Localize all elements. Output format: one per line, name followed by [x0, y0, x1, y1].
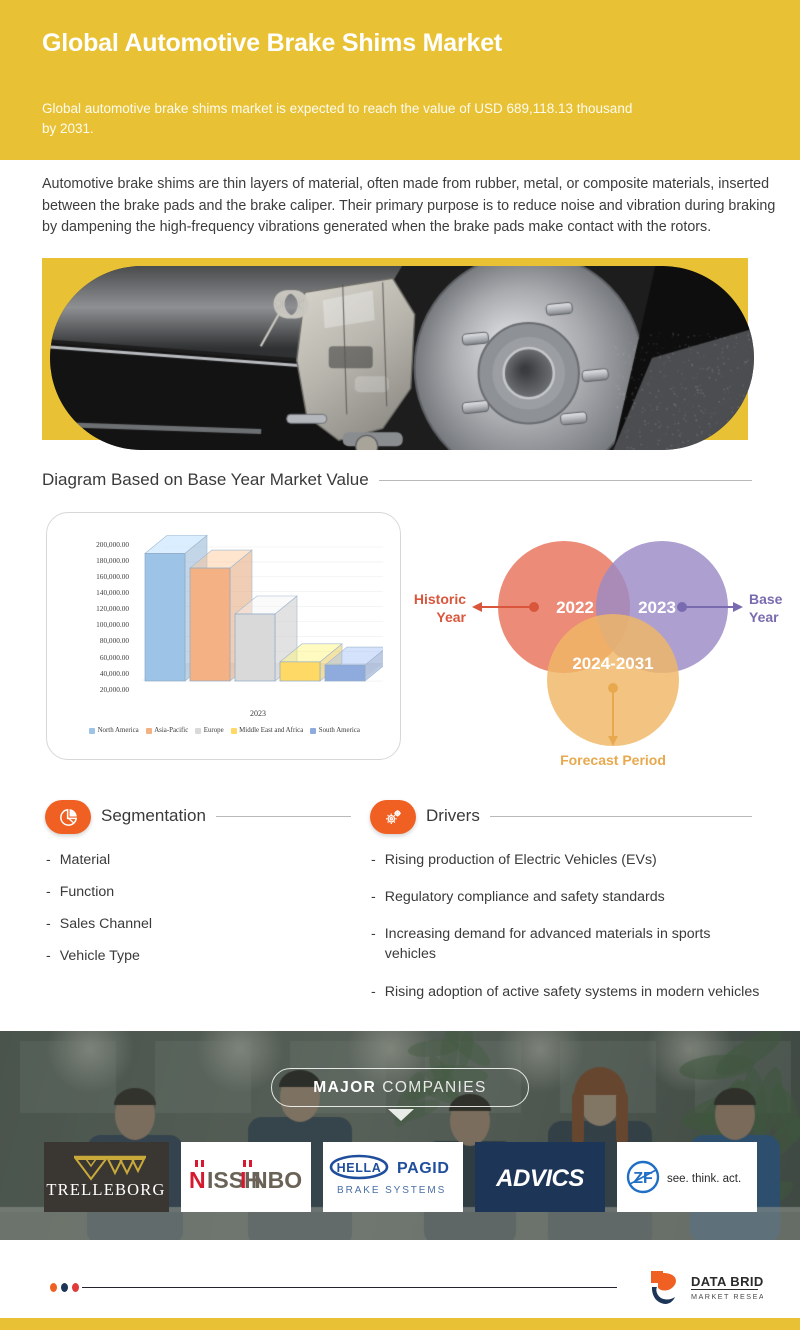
chart-legend-item: Europe: [195, 727, 223, 734]
svg-text:ZF: ZF: [633, 1170, 653, 1187]
svg-text:MARKET RESEARCH: MARKET RESEARCH: [691, 1292, 763, 1301]
segmentation-heading-text: Segmentation: [101, 806, 206, 826]
chart-y-tick: 80,000.00: [100, 637, 129, 644]
legend-swatch: [310, 728, 316, 734]
segmentation-heading: Segmentation: [101, 806, 351, 826]
chart-legend-item: Asia-Pacific: [146, 727, 189, 734]
chart-y-axis: 200,000.00180,000.00160,000.00140,000.00…: [57, 541, 129, 693]
major-companies-band: MAJORCOMPANIES TRELLEBORG: [0, 1031, 800, 1240]
pie-chart-icon: [45, 800, 91, 834]
drivers-rule: [490, 816, 752, 817]
segmentation-list: -Material-Function-Sales Channel-Vehicle…: [46, 850, 346, 979]
bar-chart-card: 200,000.00180,000.00160,000.00140,000.00…: [46, 512, 401, 760]
bullet-text: Rising production of Electric Vehicles (…: [385, 850, 657, 870]
drivers-item: -Rising production of Electric Vehicles …: [371, 850, 761, 870]
intro-paragraph: Automotive brake shims are thin layers o…: [42, 174, 782, 239]
svg-text:NBO: NBO: [251, 1167, 302, 1193]
chart-legend-item: Middle East and Africa: [231, 727, 304, 734]
drivers-item: -Rising adoption of active safety system…: [371, 982, 761, 1002]
footer-rule: [82, 1287, 617, 1288]
chart-y-tick: 140,000.00: [96, 589, 129, 596]
bullet-dash: -: [371, 850, 376, 870]
bullet-text: Rising adoption of active safety systems…: [385, 982, 760, 1002]
heading-rule: [379, 480, 752, 481]
major-companies-title-light: COMPANIES: [382, 1079, 486, 1097]
venn-label-2023: 2023: [638, 598, 676, 617]
svg-text:BRAKE SYSTEMS: BRAKE SYSTEMS: [337, 1185, 446, 1196]
bullet-dash: -: [371, 982, 376, 1002]
zf-logo-glyph: ZF see. think. act.: [617, 1157, 757, 1197]
header-subtitle: Global automotive brake shims market is …: [42, 99, 642, 138]
logo-hella-pagid: HELLA PAGID BRAKE SYSTEMS: [323, 1142, 463, 1212]
bottom-yellow-bar: [0, 1318, 800, 1330]
page-title: Global Automotive Brake Shims Market: [42, 28, 562, 59]
legend-label: Middle East and Africa: [239, 727, 303, 734]
footer-dot: [72, 1283, 79, 1292]
chart-legend-item: North America: [89, 727, 139, 734]
infographic-page: Global Automotive Brake Shims Market Glo…: [0, 0, 800, 1330]
bullet-dash: -: [46, 914, 51, 934]
bullet-text: Material: [60, 850, 110, 870]
venn-callout-forecast: Forecast Period: [560, 752, 666, 768]
bullet-dash: -: [46, 882, 51, 902]
chart-plot-area: [133, 535, 383, 705]
drivers-item: -Increasing demand for advanced material…: [371, 924, 761, 964]
hero-photo-canvas: [50, 266, 754, 450]
legend-swatch: [146, 728, 152, 734]
chart-y-tick: 160,000.00: [96, 573, 129, 580]
legend-label: Europe: [204, 727, 224, 734]
svg-text:ADVICS: ADVICS: [495, 1165, 584, 1192]
svg-text:N: N: [189, 1167, 206, 1193]
venn-svg: 2022 2023 2024-2031 Historic Year Base Y…: [410, 512, 790, 780]
footer-dot: [61, 1283, 68, 1292]
venn-label-2024-2031: 2024-2031: [572, 654, 653, 673]
bullet-text: Regulatory compliance and safety standar…: [385, 887, 665, 907]
logo-zf: ZF see. think. act.: [617, 1142, 757, 1212]
logo-nisshinbo: N ISSH I NBO: [181, 1142, 311, 1212]
venn-callout-historic-line2: Year: [436, 609, 466, 625]
drivers-heading: Drivers: [426, 806, 752, 826]
trelleborg-logo-glyph: TRELLEBORG: [44, 1151, 169, 1203]
bullet-text: Function: [60, 882, 114, 902]
venn-callout-historic-line1: Historic: [414, 591, 466, 607]
logo-advics: ADVICS: [475, 1142, 605, 1212]
svg-text:HELLA: HELLA: [337, 1161, 382, 1175]
bullet-dash: -: [371, 887, 376, 907]
header-banner: Global Automotive Brake Shims Market Glo…: [0, 0, 800, 160]
hero-photo: [50, 266, 754, 450]
drivers-list: -Rising production of Electric Vehicles …: [371, 850, 761, 1019]
chart-legend-item: South America: [310, 727, 360, 734]
legend-label: North America: [98, 727, 139, 734]
logo-trelleborg: TRELLEBORG: [44, 1142, 169, 1212]
legend-label: South America: [319, 727, 360, 734]
chart-y-tick: 180,000.00: [96, 557, 129, 564]
svg-text:see. think. act.: see. think. act.: [667, 1173, 741, 1185]
pie-chart-icon-glyph: [58, 807, 79, 828]
data-bridge-logo-glyph: DATA BRIDGE MARKET RESEARCH: [645, 1267, 763, 1309]
legend-swatch: [231, 728, 237, 734]
venn-label-2022: 2022: [556, 598, 594, 617]
bullet-dash: -: [46, 850, 51, 870]
data-bridge-logo: DATA BRIDGE MARKET RESEARCH: [645, 1267, 763, 1309]
venn-diagram: 2022 2023 2024-2031 Historic Year Base Y…: [410, 512, 790, 780]
bullet-text: Increasing demand for advanced materials…: [385, 924, 761, 964]
chart-y-tick: 60,000.00: [100, 654, 129, 661]
legend-swatch: [195, 728, 201, 734]
diagram-heading-text: Diagram Based on Base Year Market Value: [42, 470, 369, 490]
segmentation-item: -Function: [46, 882, 346, 902]
svg-text:I: I: [240, 1167, 246, 1193]
major-companies-title: MAJORCOMPANIES: [271, 1068, 529, 1107]
gears-icon: [370, 800, 416, 834]
bullet-dash: -: [371, 924, 376, 964]
legend-swatch: [89, 728, 95, 734]
segmentation-item: -Vehicle Type: [46, 946, 346, 966]
chart-y-tick: 40,000.00: [100, 670, 129, 677]
segmentation-item: -Sales Channel: [46, 914, 346, 934]
diagram-section-heading: Diagram Based on Base Year Market Value: [42, 470, 752, 490]
nisshinbo-logo-glyph: N ISSH I NBO: [181, 1157, 311, 1197]
major-companies-title-bold: MAJOR: [313, 1079, 376, 1097]
drivers-heading-text: Drivers: [426, 806, 480, 826]
svg-text:PAGID: PAGID: [397, 1160, 449, 1177]
bar-chart-svg: [133, 535, 383, 705]
svg-text:TRELLEBORG: TRELLEBORG: [46, 1180, 165, 1199]
title-caret-icon: [388, 1109, 414, 1121]
legend-label: Asia-Pacific: [154, 727, 188, 734]
footer-dot: [50, 1283, 57, 1292]
svg-text:DATA BRIDGE: DATA BRIDGE: [691, 1274, 763, 1289]
drivers-item: -Regulatory compliance and safety standa…: [371, 887, 761, 907]
chart-y-tick: 20,000.00: [100, 686, 129, 693]
hella-pagid-logo-glyph: HELLA PAGID BRAKE SYSTEMS: [323, 1153, 463, 1201]
advics-logo-glyph: ADVICS: [475, 1159, 605, 1195]
venn-callout-base-line1: Base: [749, 591, 783, 607]
gears-icon-glyph: [383, 807, 404, 828]
footer-dots: [50, 1283, 79, 1292]
hero-image-block: [42, 258, 752, 450]
venn-callout-base-line2: Year: [749, 609, 779, 625]
chart-x-label: 2023: [133, 709, 383, 718]
company-logo-row: TRELLEBORG N ISSH I NBO HELLA: [44, 1142, 756, 1212]
bullet-text: Vehicle Type: [60, 946, 140, 966]
bullet-text: Sales Channel: [60, 914, 152, 934]
chart-y-tick: 100,000.00: [96, 621, 129, 628]
chart-legend: North AmericaAsia-PacificEuropeMiddle Ea…: [55, 727, 394, 734]
bullet-dash: -: [46, 946, 51, 966]
chart-y-tick: 200,000.00: [96, 541, 129, 548]
chart-y-tick: 120,000.00: [96, 605, 129, 612]
segmentation-item: -Material: [46, 850, 346, 870]
segmentation-rule: [216, 816, 351, 817]
